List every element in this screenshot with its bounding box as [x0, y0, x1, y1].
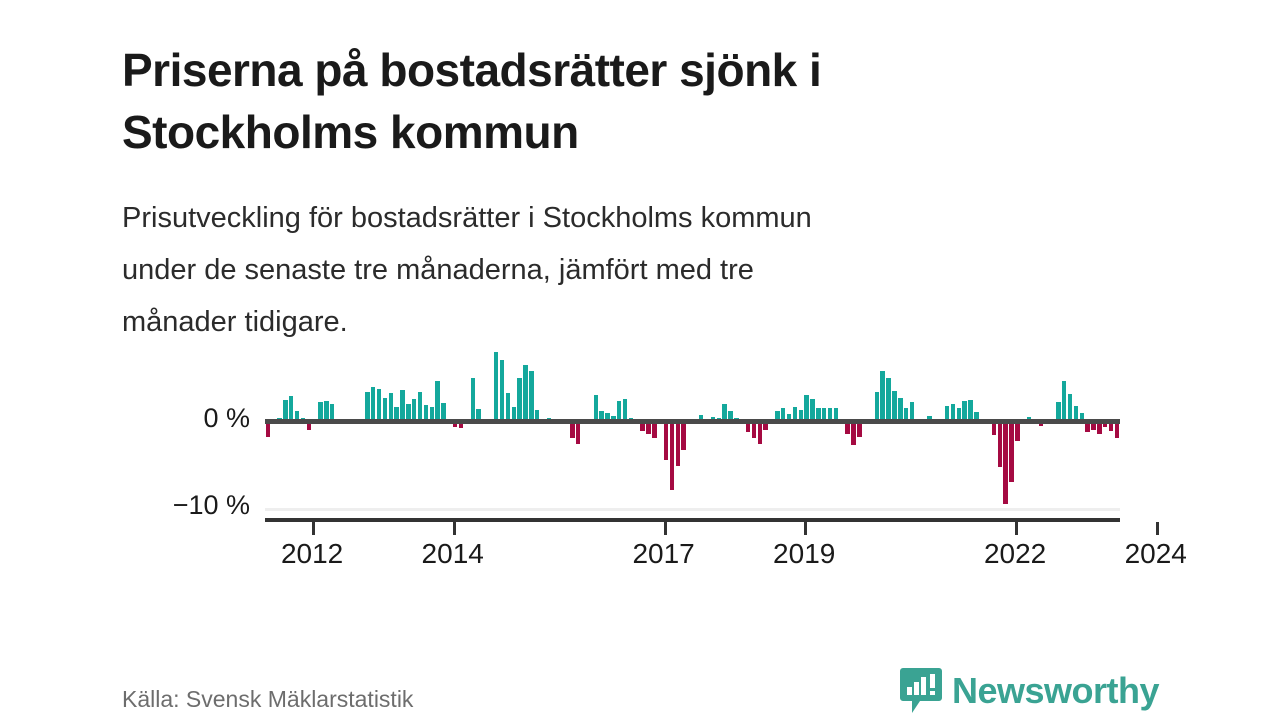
- bar: [664, 421, 668, 460]
- bar: [804, 395, 808, 421]
- x-tick-label: 2024: [1096, 538, 1216, 570]
- bar: [998, 421, 1002, 467]
- bar: [594, 395, 598, 421]
- bar: [283, 400, 287, 421]
- source-note: Källa: Svensk Mäklarstatistik: [122, 686, 413, 713]
- bar: [962, 401, 966, 421]
- y-axis-labels: 0 %−10 %: [0, 330, 250, 530]
- y-tick-label: −10 %: [50, 490, 250, 521]
- bar-chart: 0 %−10 % 201220142017201920222024 −2 %: [0, 330, 1280, 580]
- bar: [670, 421, 674, 490]
- bar: [529, 371, 533, 421]
- newsworthy-logo: Newsworthy: [900, 668, 1159, 714]
- chart-page: Priserna på bostadsrätter sjönk i Stockh…: [0, 0, 1280, 720]
- bar: [623, 399, 627, 421]
- bar: [1062, 381, 1066, 421]
- bar: [324, 401, 328, 421]
- bar: [886, 378, 890, 421]
- speech-bubble-bar-chart-icon: [900, 668, 942, 714]
- bar: [576, 421, 580, 444]
- bar: [880, 371, 884, 421]
- bar: [383, 398, 387, 421]
- bar: [875, 392, 879, 421]
- bar: [758, 421, 762, 444]
- bar: [617, 401, 621, 421]
- bar: [1068, 394, 1072, 421]
- x-tick-label: 2022: [955, 538, 1075, 570]
- bar: [517, 378, 521, 421]
- logo-wordmark: Newsworthy: [952, 673, 1159, 709]
- bar: [892, 391, 896, 421]
- bar: [681, 421, 685, 450]
- bar: [389, 393, 393, 421]
- bar: [523, 365, 527, 421]
- bar: [500, 360, 504, 421]
- bar: [435, 381, 439, 421]
- x-tick-label: 2012: [252, 538, 372, 570]
- x-tick: [453, 522, 456, 535]
- plot-area: [265, 330, 1120, 522]
- x-tick: [804, 522, 807, 535]
- bar: [676, 421, 680, 466]
- page-subtitle: Prisutveckling för bostadsrätter i Stock…: [122, 192, 1102, 349]
- bar: [371, 387, 375, 421]
- bar: [506, 393, 510, 421]
- x-tick-label: 2017: [604, 538, 724, 570]
- x-tick: [1156, 522, 1159, 535]
- bar: [1009, 421, 1013, 482]
- x-axis-line: [265, 518, 1120, 522]
- bar: [377, 389, 381, 421]
- bar: [412, 399, 416, 421]
- bar: [810, 399, 814, 421]
- bar: [494, 352, 498, 421]
- x-tick: [312, 522, 315, 535]
- bar: [471, 378, 475, 422]
- x-tick: [1015, 522, 1018, 535]
- x-tick-label: 2014: [393, 538, 513, 570]
- bar: [400, 390, 404, 421]
- y-tick-label: 0 %: [50, 403, 250, 434]
- bar: [365, 392, 369, 421]
- zero-baseline: [265, 419, 1120, 424]
- bar: [968, 400, 972, 421]
- bar: [1015, 421, 1019, 441]
- bar: [1003, 421, 1007, 504]
- bar: [289, 396, 293, 421]
- bar: [898, 398, 902, 421]
- gridline-minus10: [265, 508, 1120, 511]
- bar: [851, 421, 855, 445]
- x-axis: 201220142017201920222024: [265, 518, 1120, 578]
- bar: [418, 392, 422, 421]
- x-tick: [664, 522, 667, 535]
- page-title: Priserna på bostadsrätter sjönk i Stockh…: [122, 39, 1062, 163]
- x-tick-label: 2019: [744, 538, 864, 570]
